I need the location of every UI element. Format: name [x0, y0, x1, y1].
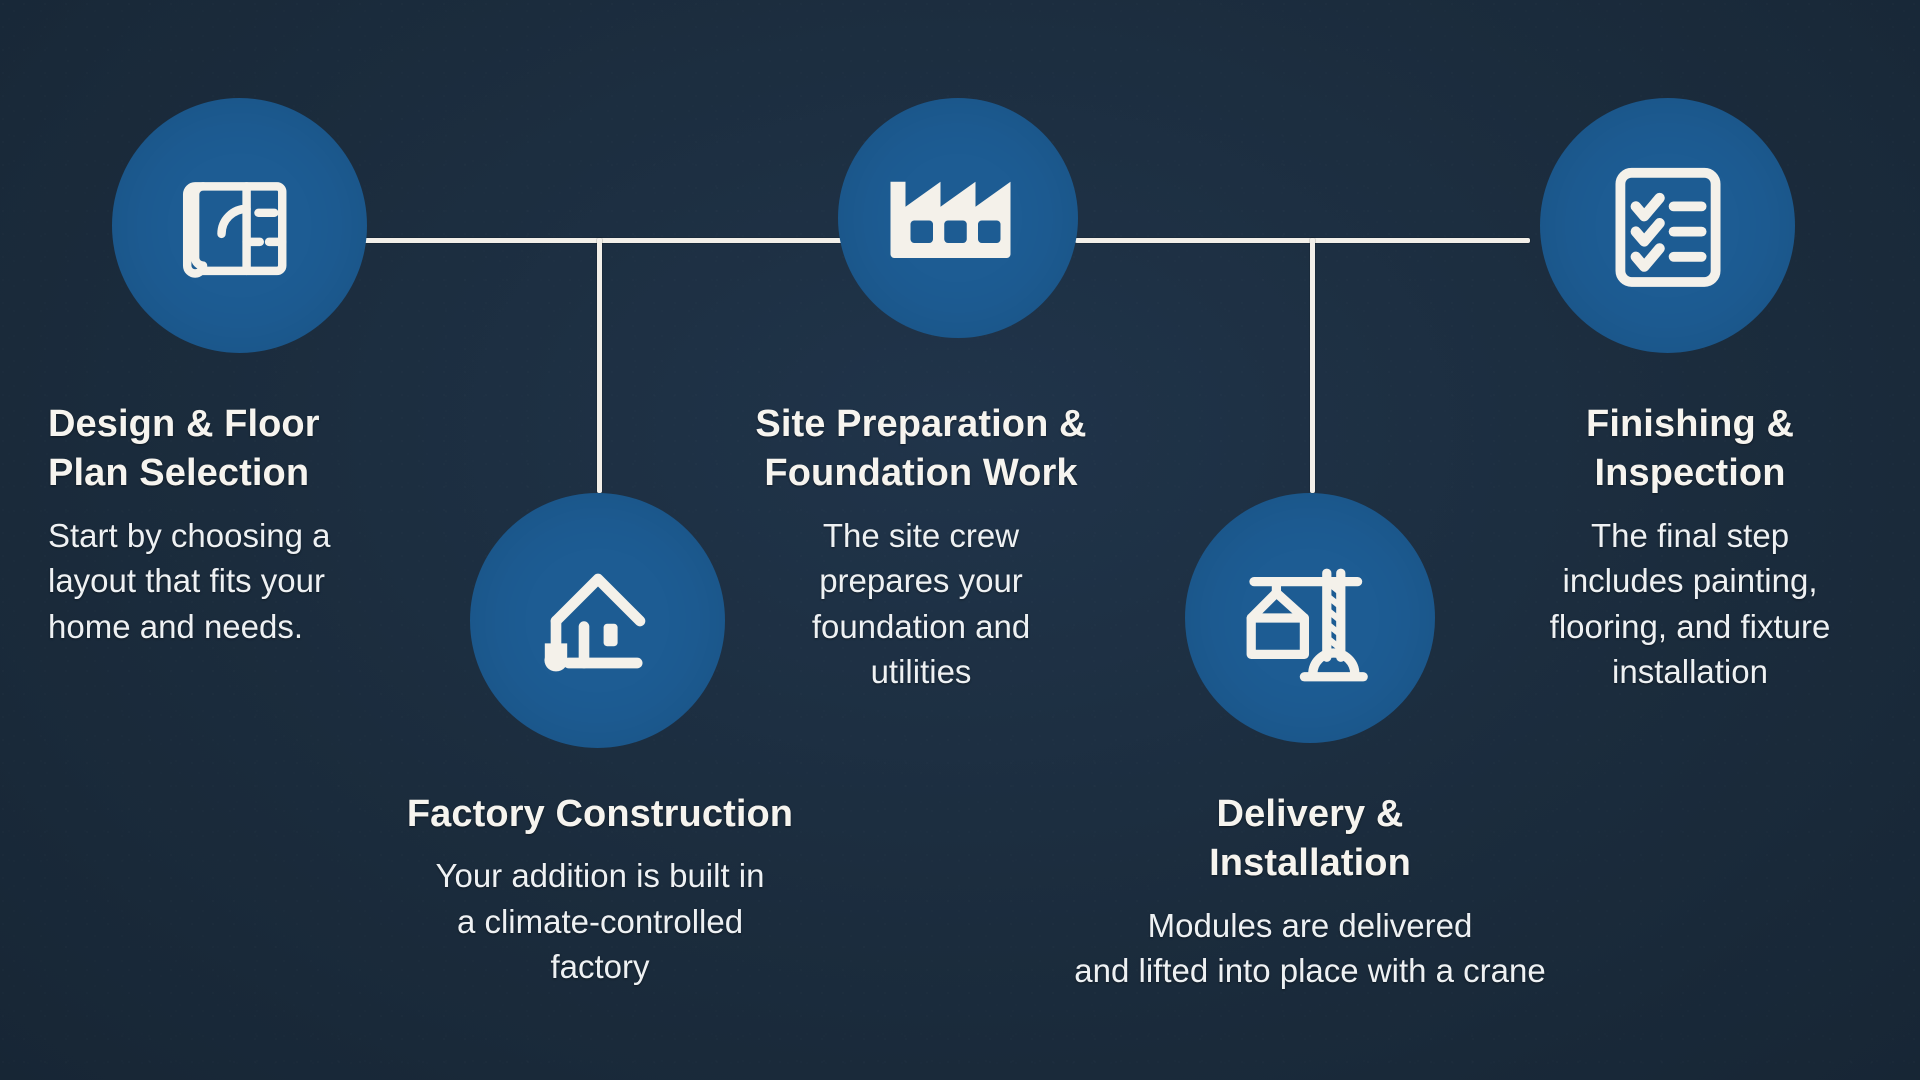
- infographic-canvas: Design & Floor Plan Selection Start by c…: [0, 0, 1920, 1080]
- step-title-1: Design & Floor Plan Selection: [48, 400, 448, 499]
- step-description-5: The final step includes painting, floori…: [1480, 513, 1900, 695]
- step-description-4: Modules are delivered and lifted into pl…: [1000, 903, 1620, 994]
- step-title-4: Delivery & Installation: [1000, 790, 1620, 889]
- step-node-1[interactable]: [112, 98, 367, 353]
- step-text-3: Site Preparation & Foundation Work The s…: [706, 400, 1136, 695]
- house-shovel-icon: [528, 551, 668, 691]
- connector-line-step1-step3: [360, 238, 845, 243]
- step-title-5: Finishing & Inspection: [1480, 400, 1900, 499]
- step-text-5: Finishing & Inspection The final step in…: [1480, 400, 1900, 695]
- step-node-5[interactable]: [1540, 98, 1795, 353]
- connector-line-step3-step5: [1075, 238, 1530, 243]
- step-description-3: The site crew prepares your foundation a…: [706, 513, 1136, 695]
- step-text-4: Delivery & Installation Modules are deli…: [1000, 790, 1620, 994]
- crane-icon: [1240, 548, 1380, 688]
- step-description-2: Your addition is built in a climate-cont…: [330, 853, 870, 990]
- connector-branch-step4: [1310, 238, 1315, 493]
- factory-icon: [883, 158, 1033, 278]
- step-title-2: Factory Construction: [330, 790, 870, 839]
- step-text-2: Factory Construction Your addition is bu…: [330, 790, 870, 990]
- step-title-3: Site Preparation & Foundation Work: [706, 400, 1136, 499]
- blueprint-floorplan-icon: [174, 160, 306, 292]
- step-text-1: Design & Floor Plan Selection Start by c…: [48, 400, 448, 649]
- step-description-1: Start by choosing a layout that fits you…: [48, 513, 448, 650]
- step-node-2[interactable]: [470, 493, 725, 748]
- step-node-4[interactable]: [1185, 493, 1435, 743]
- checklist-clipboard-icon: [1598, 156, 1738, 296]
- connector-branch-step2: [597, 238, 602, 493]
- step-node-3[interactable]: [838, 98, 1078, 338]
